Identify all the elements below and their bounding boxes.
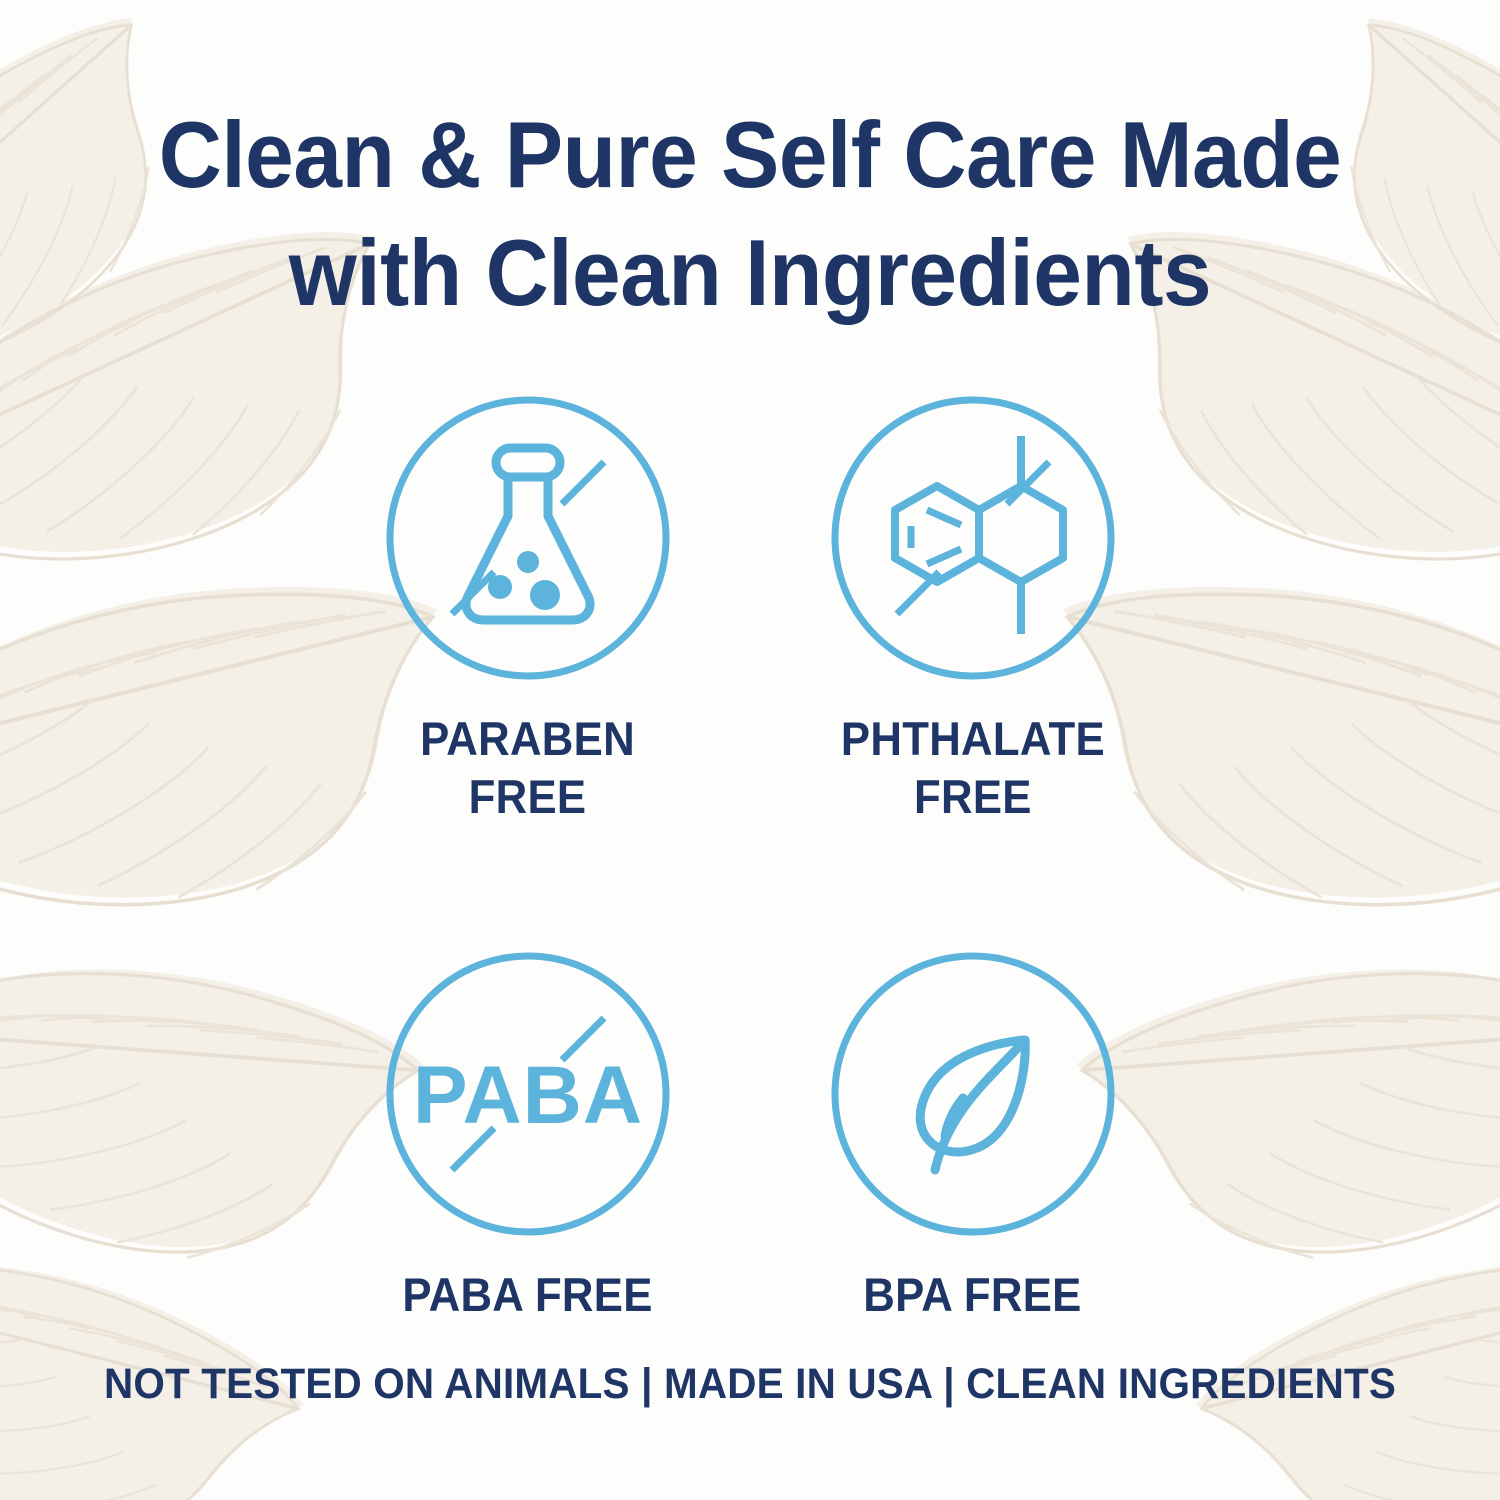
- badge-label-paba: PABA FREE: [402, 1266, 652, 1324]
- badge-label-line-1: PHTHALATE: [841, 710, 1105, 768]
- headline-line-1: Clean & Pure Self Care Made: [53, 96, 1448, 214]
- badge-row-1: PARABEN FREE: [355, 392, 1145, 826]
- badge-label-line-1: BPA FREE: [863, 1266, 1081, 1324]
- badge-label-line-1: PABA FREE: [402, 1266, 652, 1324]
- badge-label-line-2: FREE: [420, 768, 635, 826]
- leaf-icon: [827, 948, 1119, 1240]
- badge-label-paraben: PARABEN FREE: [420, 710, 635, 826]
- flask-icon: [382, 392, 674, 684]
- molecule-icon: [827, 392, 1119, 684]
- badge-label-line-1: PARABEN: [420, 710, 635, 768]
- badge-label-bpa: BPA FREE: [863, 1266, 1081, 1324]
- page-title: Clean & Pure Self Care Made with Clean I…: [53, 96, 1448, 332]
- claims-badge-grid: PARABEN FREE: [355, 392, 1145, 1324]
- paba-icon-text: PABA: [412, 1050, 642, 1141]
- badge-paba-free: PABA PABA FREE: [355, 948, 700, 1324]
- badge-bpa-free: BPA FREE: [800, 948, 1145, 1324]
- badge-row-2: PABA PABA FREE BPA FREE: [355, 948, 1145, 1324]
- badge-paraben-free: PARABEN FREE: [355, 392, 700, 826]
- paba-text-icon: PABA: [382, 948, 674, 1240]
- headline-line-2: with Clean Ingredients: [53, 214, 1448, 332]
- badge-label-line-2: FREE: [841, 768, 1105, 826]
- badge-label-phthalate: PHTHALATE FREE: [841, 710, 1105, 826]
- footer-claims-text: NOT TESTED ON ANIMALS | MADE IN USA | CL…: [45, 1360, 1455, 1409]
- badge-phthalate-free: PHTHALATE FREE: [800, 392, 1145, 826]
